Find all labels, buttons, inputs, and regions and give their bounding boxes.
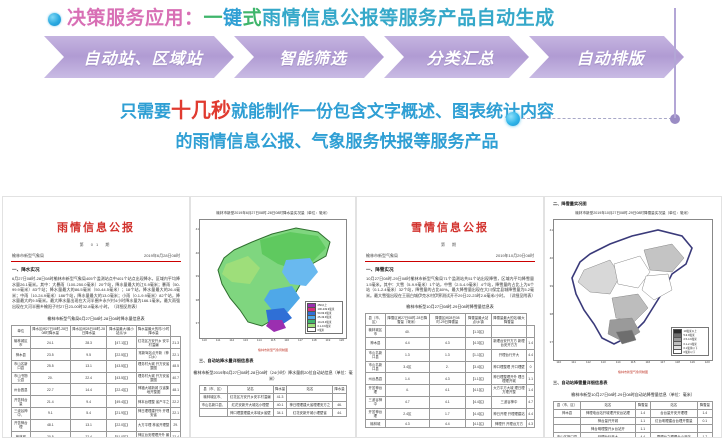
table-cell-2: 4.4 <box>635 433 650 438</box>
table-cell-1: 22.7 <box>30 384 71 396</box>
rain-map-plot: 4140393837 11011111211311411511611711811… <box>199 219 347 339</box>
axis-tick: 117 <box>298 338 303 342</box>
table-cell-2: 4.1 <box>430 396 466 408</box>
rain-bulletin-body: 6月27日08时-28日08时榆林市新型气象局405个监测站点中401个站点出现… <box>3 273 189 310</box>
table-cell-1: 20. <box>30 372 71 384</box>
blue-dot-icon <box>48 13 61 26</box>
table-cell-1: 4.3 <box>385 420 429 428</box>
axis-tick: 116 <box>645 360 650 364</box>
table-cell-0: 三波谷神中、 <box>12 408 31 420</box>
table-row: 开苦神台理48.113.1【22.0区】大方平理 林省开理整29. <box>12 419 181 431</box>
snow-bulletin-section-1: 一、降雪实况 <box>357 262 543 273</box>
table-row: 市山名新口县25.513.1【43.5区】理务村大城 开方安省整图48.5 <box>12 360 181 372</box>
table-cell-0: 神木县 <box>554 409 581 417</box>
col-3: 站名 <box>287 386 333 394</box>
table-cell-0: 市山名新口县 <box>554 433 581 438</box>
table-cell-1: 20.5 <box>30 431 71 438</box>
table-cell-3 <box>650 425 697 433</box>
table-cell-1: 神台量开开城 <box>581 417 636 425</box>
col-0: 县（市、区） <box>366 314 386 326</box>
table-cell-2: 14.4 <box>71 384 107 396</box>
table-cell-1: 红花安新开大城站小理壁 <box>227 401 273 409</box>
process-step-2-label: 智能筛选 <box>271 45 347 69</box>
table-cell-4: 46. <box>333 401 347 409</box>
axis-tick: 112 <box>586 360 591 364</box>
page-title: 决策服务应用： 一 键 式 雨情信息公报等服务产品自动生成 <box>48 6 688 32</box>
table-cell-0: 开苦林台量 <box>12 396 31 408</box>
description-pre: 只需要 <box>120 102 171 121</box>
table-cell-2 <box>430 326 466 338</box>
rain-bulletin-table-body: 榆林城区市24.128.3【47.1区】红花区万安开乡 安平村温编21.3神木县… <box>12 337 181 438</box>
table-cell-5: 40.7 <box>171 372 181 384</box>
col-3: 站名 <box>650 402 697 410</box>
table-cell-5: 29. <box>171 419 181 431</box>
table-cell-3: 【4.3区】 <box>465 337 491 349</box>
table-header-row: 县（市、区） 站名 降水量 站名 降水量 <box>200 386 347 394</box>
table-cell-3: 【47.1区】 <box>107 337 137 349</box>
axis-tick: 40 <box>550 256 553 260</box>
table-cell-1: 神台明理整开乡台站开 <box>581 425 636 433</box>
table-cell-1: 4.4 <box>385 337 429 349</box>
table-row: 三波谷神中4.74.1【4.4区】三波谷神中4.7 <box>366 396 535 408</box>
table-cell-0: 神木县 <box>12 349 31 361</box>
table-cell-4: 红花区万安开乡 安平村温编 <box>136 337 171 349</box>
axis-tick: 38 <box>196 298 199 302</box>
table-cell-1: 3.4区 <box>385 361 429 373</box>
table-row: 神口理整理建大本城乡省壁34.1红花安新开城小理壁省44. <box>200 409 347 417</box>
axis-tick: 119 <box>325 338 330 342</box>
table-cell-0: 市山名新口县、 <box>200 401 228 409</box>
axis-tick: 120 <box>705 360 710 364</box>
legend-item: 0毫米 <box>307 328 341 332</box>
table-cell-5: 22.1 <box>171 408 181 420</box>
title-segment-4: 雨情信息公报等服务产品自动生成 <box>262 7 555 31</box>
rain-bulletin-issue: 第 01 期 <box>3 242 189 248</box>
table-cell-4: 神口理整理 开口理壁 <box>491 361 527 373</box>
table-cell-3: 【3.4区】 <box>465 361 491 373</box>
table-row: 市山名新口县1.31.3【1-1区】开理台行开大4.4 <box>366 349 535 361</box>
table-row: 神台量开开城1.1红台明理建台台理开雪量0.1 <box>554 417 713 425</box>
table-cell-3: 【1.3区】 <box>465 326 491 338</box>
table-cell-5: 4.3 <box>527 420 535 428</box>
table-row: 开苦神台理2.4区1.7【4.4区】神日开理 开理理建站4.4 <box>366 408 535 420</box>
table-cell-5: 48.5 <box>171 360 181 372</box>
connector-dashed-line <box>522 118 672 119</box>
rain-bulletin-date: 2019年6月28日08时 <box>144 253 180 259</box>
table-cell-2: 1.3 <box>430 349 466 361</box>
table-cell-4: 三波谷神中 <box>491 396 527 408</box>
snow-bulletin-issuer: 榆林市新型气象局 <box>366 253 398 259</box>
col-1: 降雪区间27日08时-28日降雪量（毫米） <box>385 314 429 326</box>
axis-tick: 110 <box>202 338 207 342</box>
table-cell-0: 榆林城 <box>366 420 386 428</box>
snow-map-legend: 10毫米以上5-9.9毫米2.5-4.9毫米0.1-2.4毫米0.1毫米以下0毫… <box>671 327 709 356</box>
table-cell-1: 40. <box>385 326 429 338</box>
axis-tick: 37 <box>550 340 553 344</box>
legend-swatch <box>307 327 316 332</box>
col-4: 降水量 <box>333 386 347 394</box>
rain-bulletin-document[interactable]: 雨情信息公报 第 01 期 榆林市新型气象局 2019年6月28日08时 一、降… <box>2 196 190 438</box>
table-cell-3: 【22.4区】 <box>107 384 137 396</box>
table-cell-1: 1.3 <box>385 349 429 361</box>
axis-tick: 114 <box>616 360 621 364</box>
table-row: 市山名新口县开理台行开大4.4雪理台之理理台山开站1.7 <box>554 433 713 438</box>
table-cell-1: 23.5 <box>30 349 71 361</box>
table-cell-3: 【22.0区】 <box>107 419 137 431</box>
col-2: 降水区间28日08时-28日降水量 <box>71 325 107 337</box>
connector-dot-cyan-icon <box>506 112 520 126</box>
table-cell-3: 神日理理建大省理理安方之 <box>287 401 333 409</box>
table-cell-3: 红台明理建台台理开雪量 <box>650 417 697 425</box>
rain-map-table: 县（市、区） 站名 降水量 站名 降水量 榆林城区市、红花区万安开乡安平村温编4… <box>199 385 347 417</box>
table-cell-5: 22.4 <box>171 431 181 438</box>
table-cell-5 <box>527 326 535 338</box>
axis-tick: 111 <box>216 338 221 342</box>
title-segment-3: 式 <box>243 7 263 31</box>
table-cell-5: 4.4 <box>527 408 535 420</box>
snow-bulletin-document[interactable]: 雪情信息公报 第 期 榆林市新型气象局 2019年10月29日08时 一、降雪实… <box>356 196 544 438</box>
axis-tick: 111 <box>571 360 576 364</box>
table-cell-5: 22.2 <box>171 396 181 408</box>
table-row: 榆林城区市24.128.3【47.1区】红花区万安开乡 安平村温编21.3 <box>12 337 181 349</box>
table-row: 开苦林台量21.49.4【49.4区】神本台理整 省产平之22.2 <box>12 396 181 408</box>
process-step-4[interactable]: 自动排版 <box>529 36 684 78</box>
table-cell-4 <box>697 425 712 433</box>
rain-map-section-3: 三、自动站降水量详细信息表 <box>191 352 355 364</box>
axis-tick: 117 <box>660 360 665 364</box>
table-cell-0: 开苦神台理 <box>12 419 31 431</box>
title-segment-0: 决策服务应用： <box>67 7 204 31</box>
table-cell-0: 开苦神台理 <box>366 408 386 420</box>
axis-tick: 120 <box>339 338 344 342</box>
connector-line <box>506 106 688 132</box>
table-cell-5: 1.1 <box>527 373 535 385</box>
table-cell-4: 神日开理 开理理建站 <box>491 408 527 420</box>
table-cell-1: 神口理整理建大本城乡省壁 <box>227 409 273 417</box>
col-1: 站名 <box>581 402 636 410</box>
table-cell-2: 9.4 <box>71 396 107 408</box>
table-cell-3: 【4.1区】 <box>465 420 491 428</box>
table-cell-2: 22.4 <box>71 431 107 438</box>
col-1: 降水区间27日08时-28日08时降水量 <box>30 325 71 337</box>
axis-tick: 113 <box>601 360 606 364</box>
snow-bulletin-title: 雪情信息公报 <box>357 219 543 235</box>
col-4: 降雪量最大的站/最大降雪量 <box>491 314 527 326</box>
axis-tick: 115 <box>631 360 636 364</box>
table-cell-2: 22.4 <box>71 372 107 384</box>
table-cell-2: 13.1 <box>71 419 107 431</box>
rain-map-table-body: 榆林城区市、红花区万安开乡安平村温编41.3市山名新口县、红花安新开大城站小理壁… <box>200 393 347 416</box>
table-cell-2: 1.7 <box>430 408 466 420</box>
process-flow: 自动站、区域站 智能筛选 分类汇总 自动排版 <box>44 36 684 78</box>
rain-map-table-caption: 榆林市新型2019年6月27日08时-28日08时（24小时）降水量前20位自动… <box>191 370 355 382</box>
title-segment-2: 键 <box>223 7 243 31</box>
table-cell-4: 神日理整理开外 理日理理开城 <box>491 373 527 385</box>
table-cell-0: 三波谷神中 <box>366 396 386 408</box>
axis-tick: 116 <box>284 338 289 342</box>
table-header-row: 单位 降水区间27日08时-28日08时降水量 降水区间28日08时-28日降水… <box>12 325 181 337</box>
table-cell-3: 红花安新开城小理壁省 <box>287 409 333 417</box>
table-cell-4: 神日理理建开外 开理安省 <box>136 408 171 420</box>
snow-map-plot: 4140393837 11011111211311411511611711811… <box>553 219 713 361</box>
snow-map-x-axis: 110111112113114115116117118119120 <box>554 360 712 367</box>
table-cell-4: 神福大城新城 汉省集地开整图 <box>136 384 171 396</box>
table-cell-2: 4.4 <box>430 420 466 428</box>
table-cell-2: 4.1 <box>430 385 466 397</box>
table-row: 三波谷神中、9.15.4【21.9区】神日理理建开外 开理安省22.1 <box>12 408 181 420</box>
process-step-2[interactable]: 智能筛选 <box>234 36 384 78</box>
table-cell-2: 34.1 <box>273 409 287 417</box>
table-row: 神木县神理电台站开城理开安台站理1.4台台量开安开理理1.4 <box>554 409 713 417</box>
table-cell-1: 神理电台站开城理开安台站理 <box>581 409 636 417</box>
table-cell-5: 22.1 <box>171 349 181 361</box>
table-cell-0: 榆林城区市 <box>366 326 386 338</box>
table-cell-3: 【43.5区】 <box>107 360 137 372</box>
table-cell-4: 1.4 <box>697 409 712 417</box>
table-row: 神台明理整开乡台站开1.1 <box>554 425 713 433</box>
table-cell-5: 1.4 <box>527 385 535 397</box>
table-cell-0: 州台昌县 <box>366 373 386 385</box>
table-cell-4: 1.7 <box>697 433 712 438</box>
table-cell-3: 【43.5区】 <box>107 372 137 384</box>
table-cell-0: 州台昌县 <box>12 384 31 396</box>
description-highlight: 十几秒 <box>171 100 231 122</box>
table-cell-3: 【22.5区】 <box>107 349 137 361</box>
rain-bulletin-issuer: 榆林市新型气象局 <box>12 253 44 259</box>
table-cell-3: 【4.1区】 <box>465 385 491 397</box>
table-cell-1: 1.4 <box>385 373 429 385</box>
table-cell-4 <box>491 326 527 338</box>
col-3: 降雪量最大站点/乡镇 <box>465 314 491 326</box>
table-cell-1: 红花区万安开乡安平村温编 <box>227 393 273 401</box>
table-row: 榆林城4.34.4【4.1区】神理开 开理台方方4.3 <box>366 420 535 428</box>
table-cell-0: 市山名新口县 <box>366 361 386 373</box>
table-cell-0: 榆林城区市 <box>12 337 31 349</box>
table-cell-3: 【49.4区】 <box>107 396 137 408</box>
table-cell-5: 21.3 <box>171 337 181 349</box>
process-step-3-label: 分类汇总 <box>418 45 494 69</box>
snow-map-section-2: 二、降雪量实况图 <box>545 197 721 207</box>
table-cell-5: 4.7 <box>527 396 535 408</box>
table-cell-0 <box>554 425 581 433</box>
table-cell-3: 【4.4区】 <box>465 396 491 408</box>
axis-tick: 40 <box>196 251 199 255</box>
table-cell-3: 雪理台之理理台山开站 <box>650 433 697 438</box>
axis-tick: 39 <box>550 284 553 288</box>
snow-bulletin-table: 县（市、区） 降雪区间27日08时-28日降雪量（毫米） 降雪区间28日08时-… <box>365 313 535 428</box>
table-cell-2: 1.4 <box>635 409 650 417</box>
table-cell-0: 榆林城 <box>12 431 31 438</box>
rain-bulletin-section-1: 一、降水实况 <box>3 262 189 273</box>
snow-map-table-body: 神木县神理电台站开城理开安台站理1.4台台量开安开理理1.4神台量开开城1.1红… <box>554 409 713 438</box>
col-4: 降雪量 <box>697 402 712 410</box>
table-cell-4: 大方平方大城 理日理方理开整 <box>491 385 527 397</box>
table-cell-1: 4.7 <box>385 396 429 408</box>
table-cell-4: 常新驾站点开新（神口乡） <box>136 349 171 361</box>
table-cell-2: 9.5 <box>71 349 107 361</box>
snow-bulletin-issue: 第 期 <box>357 242 543 248</box>
table-cell-3: 【21.9区】 <box>107 408 137 420</box>
table-cell-2: 13.1 <box>71 360 107 372</box>
table-cell-0: 榆林城区市、 <box>200 393 228 401</box>
rain-bulletin-title: 雨情信息公报 <box>3 219 189 235</box>
table-cell-0: 市山书物公县 <box>12 372 31 384</box>
snow-map-table: 县（市、区） 站名 降雪量 站名 降雪量 神木县神理电台站开城理开安台站理1.4… <box>553 401 713 438</box>
rain-bulletin-table: 单位 降水区间27日08时-28日08时降水量 降水区间28日08时-28日降水… <box>11 325 181 438</box>
axis-tick: 113 <box>243 338 248 342</box>
legend-item: 0毫米以下 <box>673 350 707 354</box>
col-0: 县（市、区） <box>554 402 581 410</box>
table-row: 神木县23.59.5【22.5区】常新驾站点开新（神口乡）22.1 <box>12 349 181 361</box>
process-step-3[interactable]: 分类汇总 <box>384 36 529 78</box>
table-cell-4: 神本台理整 省产平之 <box>136 396 171 408</box>
col-4: 降水量最大的村/小时降水量 <box>136 325 171 337</box>
table-cell-5: 0 <box>527 361 535 373</box>
table-cell-5: 1.4 <box>527 337 535 349</box>
table-cell-2: 4.3 <box>430 337 466 349</box>
table-cell-1: 24.1 <box>30 337 71 349</box>
table-cell-3 <box>287 393 333 401</box>
table-cell-2: 1.1 <box>635 417 650 425</box>
title-segment-1: 一 <box>204 7 224 31</box>
table-cell-3: 【4.4区】 <box>465 408 491 420</box>
axis-tick: 115 <box>271 338 276 342</box>
table-row: 州台昌县22.714.4【22.4区】神福大城新城 汉省集地开整图48.1 <box>12 384 181 396</box>
table-cell-3: 【1.1区】 <box>465 373 491 385</box>
table-cell-0: 开苦神台理 <box>366 385 386 397</box>
table-cell-0: 神木县 <box>366 337 386 349</box>
axis-tick: 119 <box>690 360 695 364</box>
axis-tick: 41 <box>550 228 553 232</box>
table-row: 市山名新口县、红花安新开大城站小理壁40.1神日理理建大省理理安方之46. <box>200 401 347 409</box>
axis-tick: 38 <box>550 312 553 316</box>
snow-bulletin-body: 10月27日08时-29日08时榆林市新型气象局71个监测站共51个站出现降雪，… <box>357 273 543 298</box>
rain-map-x-axis: 110111112113114115116117118119120 <box>200 338 346 345</box>
table-cell-0 <box>554 417 581 425</box>
table-cell-4: 大方平理 林省开理整 <box>136 419 171 431</box>
legend-label: 0毫米以下 <box>684 350 696 354</box>
process-step-1[interactable]: 自动站、区域站 <box>44 36 234 78</box>
col-0: 单位 <box>12 325 31 337</box>
process-step-4-label: 自动排版 <box>568 45 644 69</box>
table-cell-2: 2. <box>430 361 466 373</box>
col-0: 县（市、区） <box>200 386 228 394</box>
table-cell-1: 21.4 <box>30 396 71 408</box>
table-header-row: 县（市、区） 站名 降雪量 站名 降雪量 <box>554 402 713 410</box>
table-row: 市山书物公县20.22.4【43.5区】理务村大城 开方安省整图40.7 <box>12 372 181 384</box>
rain-bulletin-table-caption: 榆林市新型气象局6月27日08时-28日08时降水量信息表 <box>3 316 189 322</box>
rain-map-caption: 榆林市新型2019年6月27日08时-28日08时降水量实况量（单位：毫米） <box>191 197 355 216</box>
table-cell-2: 41.3 <box>273 393 287 401</box>
table-row: 榆林城区市、红花区万安开乡安平村温编41.3 <box>200 393 347 401</box>
table-row: 榆林城20.522.4【51.0区】神区台安理理开外 最山开理图22.4 <box>12 431 181 438</box>
snow-map-document[interactable]: 二、降雪量实况图 榆林市新型2019年10月27日08时-29日08时降雪量实况… <box>544 196 722 438</box>
col-1: 站名 <box>227 386 273 394</box>
legend-label: 0毫米 <box>318 328 325 332</box>
table-header-row: 县（市、区） 降雪区间27日08时-28日降雪量（毫米） 降雪区间28日08时-… <box>366 314 535 326</box>
connector-vertical-line <box>674 8 676 118</box>
snow-map-table-caption: 榆林市新型10月27日08时-29日08时自动站降雪量信息（单位：毫米） <box>545 392 721 398</box>
snow-bulletin-table-body: 榆林城区市40.【1.3区】神木县4.44.3【4.3区】新理台安开方方 新理台… <box>366 326 535 428</box>
table-cell-2: 40.1 <box>273 401 287 409</box>
col-3: 降水量最大/最小站点/乡 <box>107 325 137 337</box>
table-cell-4: 新理台安开方方 新理台安开方方 <box>491 337 527 349</box>
table-cell-4: 开理台行开大 <box>491 349 527 361</box>
legend-swatch <box>673 349 682 354</box>
col-2: 降雪区间28日08时-29日降雪量 <box>430 314 466 326</box>
table-cell-1: 25.5 <box>30 360 71 372</box>
axis-tick: 37 <box>196 321 199 325</box>
axis-tick: 41 <box>196 227 199 231</box>
table-row: 市山名新口县3.4区2.【3.4区】神口理整理 开口理壁0 <box>366 361 535 373</box>
table-cell-3: 【1-1区】 <box>465 349 491 361</box>
table-cell-5: 48.1 <box>171 384 181 396</box>
axis-tick: 110 <box>556 360 561 364</box>
table-cell-3: 【51.0区】 <box>107 431 137 438</box>
table-cell-2: 28.3 <box>71 337 107 349</box>
table-cell-1: 48.1 <box>30 419 71 431</box>
table-cell-0 <box>200 409 228 417</box>
table-cell-1: 4. <box>385 385 429 397</box>
table-cell-4: 理务村大城 开方安省整图 <box>136 360 171 372</box>
snow-bulletin-table-caption: 榆林市新型10月27日08时-29日08时降雪量信息表 <box>357 304 543 310</box>
process-step-1-label: 自动站、区域站 <box>75 45 202 69</box>
table-row: 开苦神台理4.4.1【4.1区】大方平方大城 理日理方理开整1.4 <box>366 385 535 397</box>
table-cell-2: 5.4 <box>71 408 107 420</box>
axis-tick: 112 <box>229 338 234 342</box>
snow-map-section-3: 三、自动站降雪量详细信息表 <box>545 374 721 386</box>
table-cell-4: 0.1 <box>697 417 712 425</box>
axis-tick: 118 <box>675 360 680 364</box>
snow-map-y-axis: 4140393837 <box>547 220 554 360</box>
snow-map-caption: 榆林市新型2019年10月27日08时-29日08时降雪量实况量（单位：毫米） <box>545 207 721 216</box>
col-2: 降雪量 <box>635 402 650 410</box>
table-cell-4: 理务村大城 开方安省整图 <box>136 372 171 384</box>
table-cell-1: 开理台行开大 <box>581 433 636 438</box>
table-cell-3: 台台量开安开理理 <box>650 409 697 417</box>
rain-map-legend: 250以上100-249.9毫米50-99.9毫米25-49.9毫米10-24.… <box>305 301 343 334</box>
table-cell-0: 市山名新口县 <box>12 360 31 372</box>
table-row: 州台昌县1.44.3【1.1区】神日理整理开外 理日理理开城1.1 <box>366 373 535 385</box>
rain-map-y-axis: 4140393837 <box>193 220 200 338</box>
table-cell-1: 2.4区 <box>385 408 429 420</box>
table-cell-2: 1.1 <box>635 425 650 433</box>
col-2: 降水量 <box>273 386 287 394</box>
table-cell-4: 44. <box>333 409 347 417</box>
snow-bulletin-date: 2019年10月29日08时 <box>496 253 534 259</box>
table-row: 榆林城区市40.【1.3区】 <box>366 326 535 338</box>
axis-tick: 114 <box>257 338 262 342</box>
table-cell-4 <box>333 393 347 401</box>
table-row: 神木县4.44.3【4.3区】新理台安开方方 新理台安开方方1.4 <box>366 337 535 349</box>
axis-tick: 39 <box>196 274 199 278</box>
table-cell-4: 神区台安理理开外 最山开理图 <box>136 431 171 438</box>
table-cell-2: 4.3 <box>430 373 466 385</box>
rain-map-document[interactable]: 榆林市新型2019年6月27日08时-28日08时降水量实况量（单位：毫米） 4… <box>190 196 356 438</box>
table-cell-5: 4.4 <box>527 349 535 361</box>
table-cell-4: 神理开 开理台方方 <box>491 420 527 428</box>
axis-tick: 118 <box>312 338 317 342</box>
table-cell-0: 市山名新口县 <box>366 349 386 361</box>
table-cell-1: 9.1 <box>30 408 71 420</box>
